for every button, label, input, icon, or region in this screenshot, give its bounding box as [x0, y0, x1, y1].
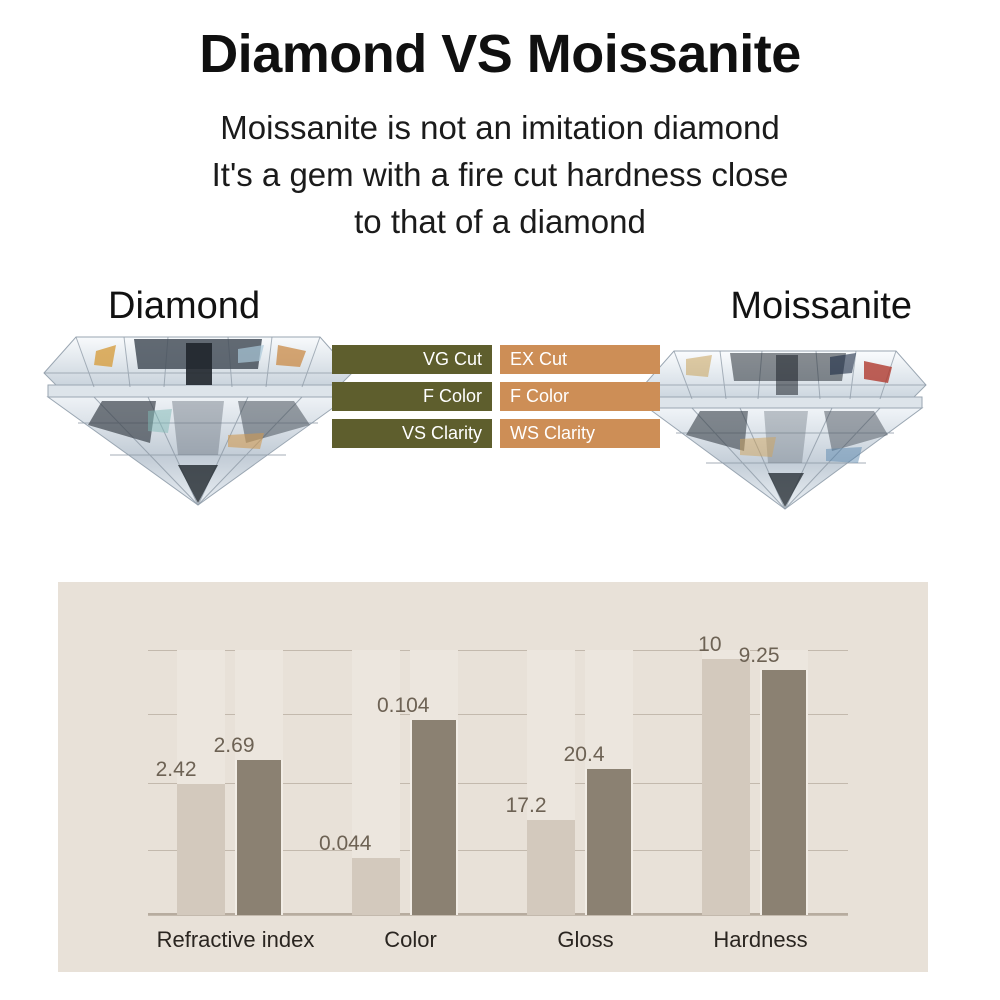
- moissanite-bar: [410, 650, 458, 915]
- bar-fill: [527, 820, 575, 915]
- chart-category-label: Gloss: [498, 927, 673, 953]
- diamond-tag-color: F Color: [332, 382, 492, 411]
- bar-fill: [702, 659, 750, 915]
- comparison-bar-chart: 2.422.69Refractive index0.0440.104Color1…: [58, 582, 928, 972]
- page-subtitle: Moissanite is not an imitation diamond I…: [0, 105, 1000, 246]
- moissanite-heading: Moissanite: [730, 285, 912, 328]
- diamond-tag-clarity: VS Clarity: [332, 419, 492, 448]
- page-title: Diamond VS Moissanite: [0, 26, 1000, 83]
- bar-value-label: 9.25: [694, 644, 780, 668]
- moissanite-spec-tags: EX Cut F Color WS Clarity: [500, 345, 660, 456]
- moissanite-bar: [235, 650, 283, 915]
- diamond-bar: [177, 650, 225, 915]
- bar-value-label: 0.104: [344, 694, 430, 718]
- chart-category-label: Hardness: [673, 927, 848, 953]
- moissanite-tag-clarity: WS Clarity: [500, 419, 660, 448]
- spec-tag-group: VG Cut F Color VS Clarity EX Cut F Color…: [0, 345, 1000, 460]
- bar-fill: [352, 858, 400, 915]
- chart-category-label: Color: [323, 927, 498, 953]
- subtitle-line-1: Moissanite is not an imitation diamond: [0, 105, 1000, 152]
- bar-value-label: 17.2: [461, 794, 547, 818]
- chart-category-group: 109.25Hardness: [673, 650, 848, 915]
- bar-fill: [177, 784, 225, 915]
- chart-gridline: [148, 915, 848, 916]
- bar-fill: [585, 769, 633, 915]
- bar-value-label: 2.42: [111, 758, 197, 782]
- gem-comparison-section: Diamond Moissanite: [0, 285, 1000, 560]
- bar-fill: [235, 760, 283, 915]
- subtitle-line-2: It's a gem with a fire cut hardness clos…: [0, 152, 1000, 199]
- subtitle-line-3: to that of a diamond: [0, 199, 1000, 246]
- bar-fill: [410, 720, 458, 915]
- diamond-spec-tags: VG Cut F Color VS Clarity: [332, 345, 492, 456]
- diamond-bar: [527, 650, 575, 915]
- chart-category-label: Refractive index: [148, 927, 323, 953]
- moissanite-bar: [585, 650, 633, 915]
- moissanite-tag-color: F Color: [500, 382, 660, 411]
- chart-category-group: 17.220.4Gloss: [498, 650, 673, 915]
- diamond-tag-cut: VG Cut: [332, 345, 492, 374]
- moissanite-tag-cut: EX Cut: [500, 345, 660, 374]
- bar-value-label: 2.69: [169, 734, 255, 758]
- moissanite-bar: [760, 650, 808, 915]
- bar-value-label: 0.044: [286, 832, 372, 856]
- diamond-bar: [702, 650, 750, 915]
- diamond-bar: [352, 650, 400, 915]
- bar-value-label: 20.4: [519, 743, 605, 767]
- bar-fill: [760, 670, 808, 915]
- chart-category-group: 2.422.69Refractive index: [148, 650, 323, 915]
- chart-plot-area: 2.422.69Refractive index0.0440.104Color1…: [148, 650, 848, 915]
- chart-category-group: 0.0440.104Color: [323, 650, 498, 915]
